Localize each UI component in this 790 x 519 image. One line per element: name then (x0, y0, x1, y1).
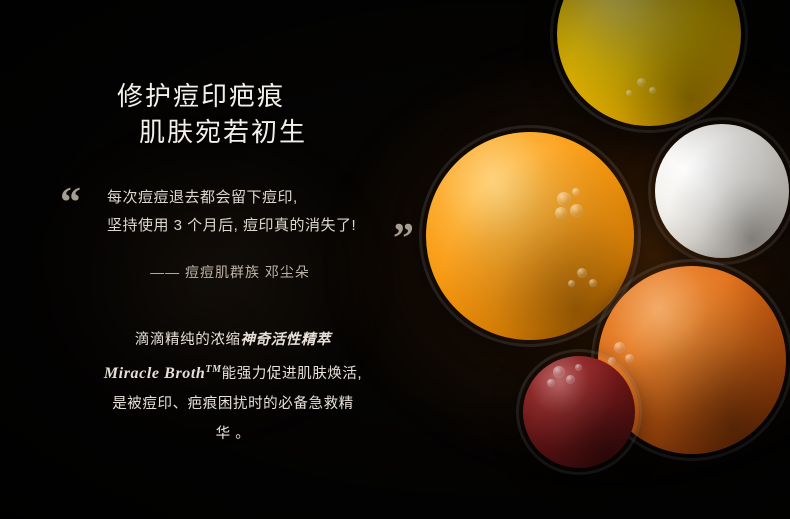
dish-rim (553, 0, 745, 130)
bubble (589, 279, 597, 287)
product-description: 滴滴精纯的浓缩神奇活性精萃 Miracle BrothTM能强力促进肌肤焕活, … (48, 325, 418, 449)
headline-line-2: 肌肤宛若初生 (139, 114, 307, 150)
bubble (572, 188, 580, 196)
description-line-2-rest: 能强力促进肌肤焕活, (222, 366, 363, 382)
bubble (626, 90, 632, 96)
bubble (570, 204, 583, 217)
bubble (557, 192, 571, 206)
description-emphasis: 神奇活性精萃 (241, 332, 332, 348)
bubble (547, 379, 555, 387)
bubble (553, 366, 565, 378)
description-line-2: Miracle BrothTM能强力促进肌肤焕活, (48, 355, 418, 389)
description-line-4: 华 。 (48, 419, 418, 449)
brand-name: Miracle Broth (104, 365, 206, 382)
bubble (625, 354, 634, 363)
bubble (555, 207, 567, 219)
yellow-serum-dish (553, 0, 745, 130)
white-cream-dish (651, 120, 790, 262)
bubble (577, 268, 587, 278)
bubble (637, 78, 646, 87)
quote-close-icon: ” (393, 218, 414, 260)
bubble (566, 375, 575, 384)
page-title: 修护痘印疤痕 肌肤宛若初生 (117, 78, 307, 150)
promo-banner: 修护痘印疤痕 肌肤宛若初生 “ 每次痘痘退去都会留下痘印, 坚持使用 3 个月后… (0, 0, 790, 519)
bubble (614, 342, 625, 353)
quote-open-icon: “ (60, 182, 81, 224)
red-serum-dish (519, 352, 639, 472)
bubble (649, 87, 656, 94)
dish-rim (651, 120, 790, 262)
description-line-1-prefix: 滴滴精纯的浓缩 (135, 332, 241, 348)
quote-line-2: 坚持使用 3 个月后, 痘印真的消失了! (107, 212, 407, 240)
trademark-mark: TM (205, 364, 221, 375)
quote-text: 每次痘痘退去都会留下痘印, 坚持使用 3 个月后, 痘印真的消失了! (107, 184, 407, 240)
headline-line-1: 修护痘印疤痕 (117, 78, 307, 114)
bubble (568, 280, 575, 287)
bubble (575, 364, 582, 371)
copy-column: 修护痘印疤痕 肌肤宛若初生 “ 每次痘痘退去都会留下痘印, 坚持使用 3 个月后… (0, 0, 470, 519)
quote-line-1: 每次痘痘退去都会留下痘印, (107, 184, 407, 212)
description-line-3: 是被痘印、疤痕困扰时的必备急救精 (48, 389, 418, 419)
description-line-1: 滴滴精纯的浓缩神奇活性精萃 (48, 325, 418, 355)
quote-attribution: —— 痘痘肌群族 邓尘朵 (65, 262, 395, 282)
